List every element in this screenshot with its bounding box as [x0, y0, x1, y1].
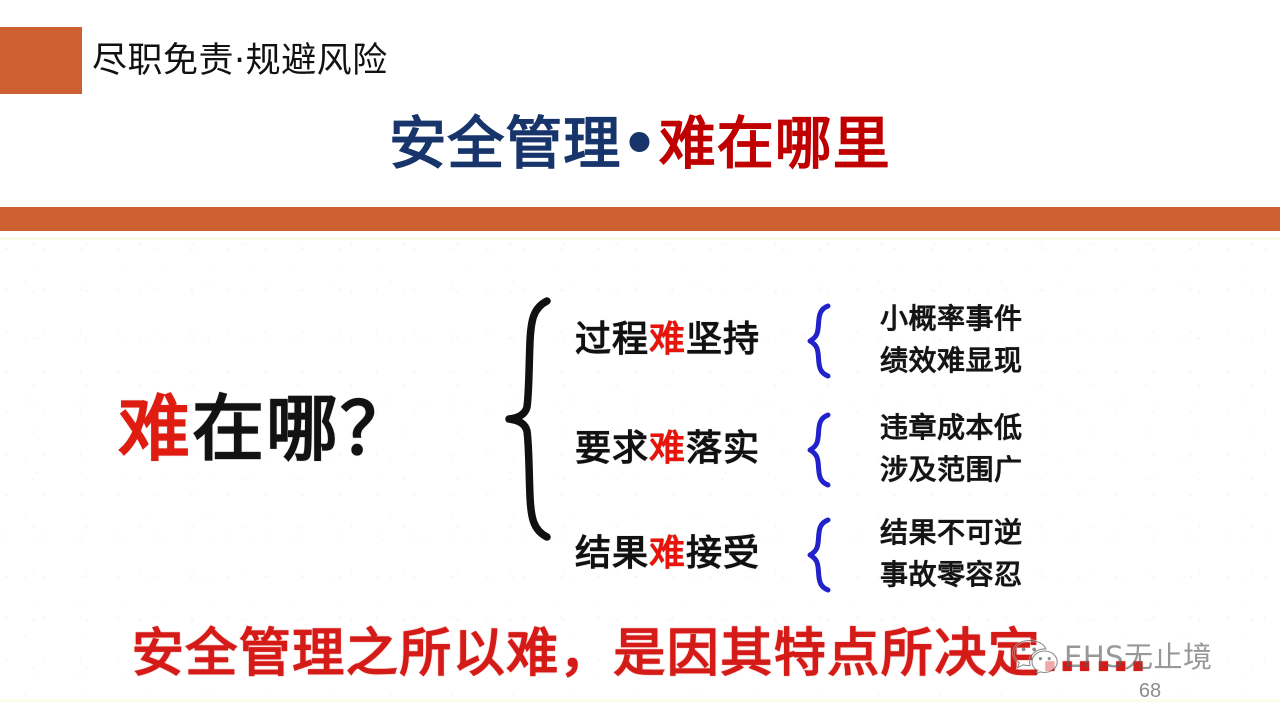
branch-label: 过程难坚持	[575, 315, 760, 365]
branch-label: 要求难落实	[575, 424, 760, 474]
wechat-icon	[1012, 638, 1058, 676]
header-divider-bar	[0, 207, 1280, 231]
slide-title-red-part: 难在哪里	[659, 111, 891, 177]
branch-label-prefix: 结果	[575, 533, 649, 574]
sub-group: 小概率事件 绩效难显现	[880, 298, 1070, 382]
sub-item: 小概率事件	[880, 298, 1070, 340]
figure-left-label-red: 难	[118, 387, 192, 471]
sub-group: 结果不可逆 事故零容忍	[880, 512, 1070, 596]
watermark: EHS无止境	[1012, 638, 1213, 676]
sub-item: 涉及范围广	[880, 449, 1070, 491]
sub-item: 绩效难显现	[880, 340, 1070, 382]
branch-label: 结果难接受	[575, 529, 760, 579]
branch-label-highlight: 难	[649, 428, 686, 469]
sub-brace-icon	[800, 302, 834, 380]
branch-label-suffix: 接受	[686, 533, 760, 574]
slide-header: 尽职免责·规避风险 安全管理•难在哪里	[0, 0, 1280, 207]
sub-group: 违章成本低 涉及范围广	[880, 407, 1070, 491]
sub-item: 结果不可逆	[880, 512, 1070, 554]
sub-item: 事故零容忍	[880, 554, 1070, 596]
main-brace-icon	[503, 295, 555, 543]
branch-label-highlight: 难	[649, 533, 686, 574]
watermark-label: EHS无止境	[1064, 639, 1213, 675]
branch-label-prefix: 要求	[575, 428, 649, 469]
page-number: 68	[1120, 678, 1180, 704]
branch-label-highlight: 难	[649, 319, 686, 360]
figure-left-label: 难在哪？	[118, 381, 414, 477]
branch-label-suffix: 坚持	[686, 319, 760, 360]
branch-label-prefix: 过程	[575, 319, 649, 360]
branch-label-suffix: 落实	[686, 428, 760, 469]
sub-brace-icon	[800, 516, 834, 594]
figure-left-label-black: 在哪？	[192, 387, 414, 471]
sub-brace-icon	[800, 411, 834, 489]
slide-title: 安全管理•难在哪里	[0, 108, 1280, 180]
header-kicker-text: 尽职免责·规避风险	[92, 37, 388, 85]
slide-title-navy-part: 安全管理•	[389, 111, 658, 177]
sub-item: 违章成本低	[880, 407, 1070, 449]
header-accent-square	[0, 27, 82, 94]
